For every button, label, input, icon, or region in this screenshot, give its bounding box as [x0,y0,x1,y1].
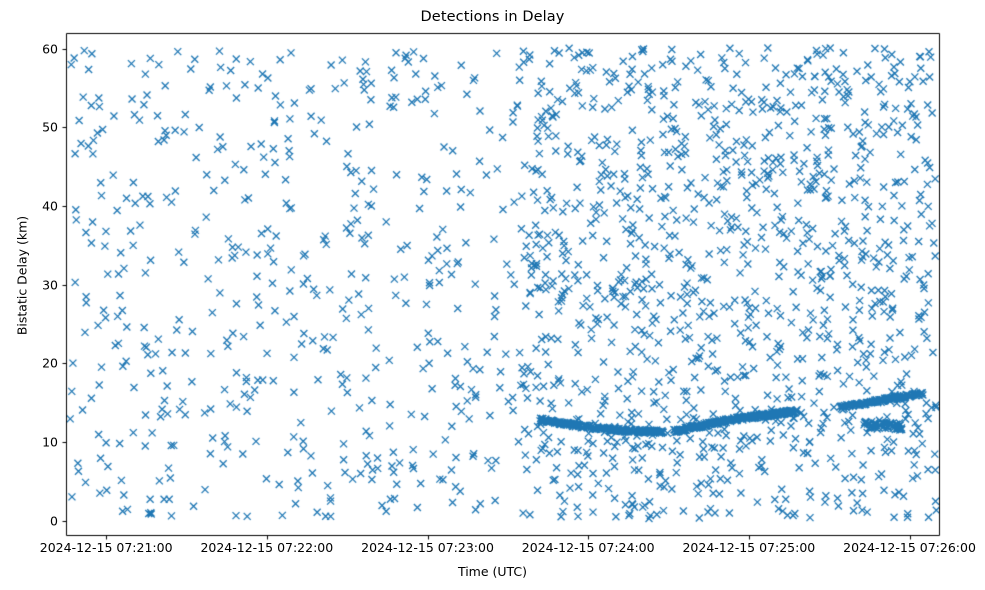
scatter-plot-figure: Detections in Delay Time (UTC) Bistatic … [0,0,985,590]
scatter-plot-canvas [0,0,985,590]
